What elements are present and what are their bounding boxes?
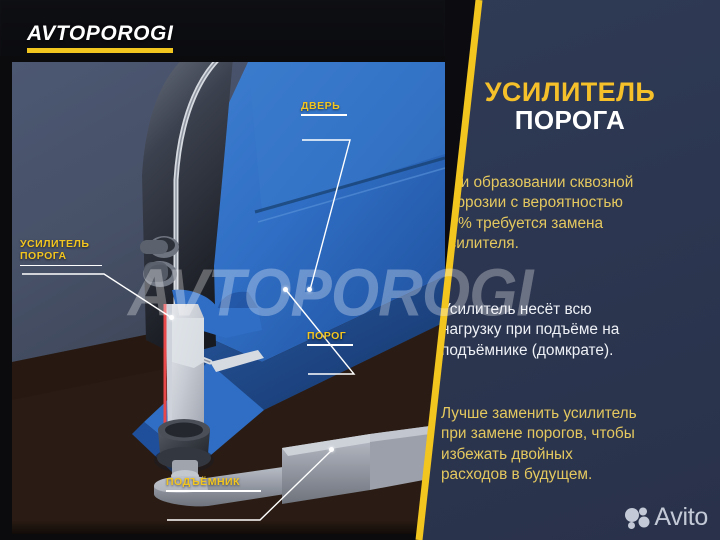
callout-anchor-dot-usilitel	[169, 315, 174, 320]
callout-underline	[20, 265, 102, 266]
page-title-line2: ПОРОГА	[420, 107, 720, 135]
paragraph-load: Усилитель несёт всю нагрузку при подъёме…	[441, 300, 709, 361]
callout-anchor-dot-podemnik	[329, 447, 334, 452]
brand-logo-underline	[27, 48, 173, 53]
sill-reinforcement-diagram	[12, 62, 445, 534]
callout-label-sill: ПОРОГ	[307, 330, 353, 346]
car-sill-cutaway-svg	[12, 62, 445, 534]
callout-label-text: ДВЕРЬ	[301, 100, 347, 112]
callout-label-sill-reinforcement: УСИЛИТЕЛЬ ПОРОГА	[20, 238, 102, 266]
illustration-frame	[0, 56, 445, 540]
ground-bottom-shadow	[12, 520, 445, 534]
callout-label-door: ДВЕРЬ	[301, 100, 347, 116]
avito-dots-icon	[624, 506, 650, 530]
callout-underline	[166, 490, 261, 491]
paragraph-corrosion: При образовании сквозной коррозии с веро…	[441, 173, 709, 255]
callout-label-text: ПОДЪЁМНИК	[166, 476, 261, 488]
callout-label-text: УСИЛИТЕЛЬ ПОРОГА	[20, 238, 102, 263]
brand-logo-text: AVTOPOROGI	[27, 22, 173, 46]
brand-logo[interactable]: AVTOPOROGI	[27, 22, 173, 53]
callout-anchor-dot-dver	[307, 287, 312, 292]
avito-logo: Avito	[624, 503, 708, 532]
callout-label-lift: ПОДЪЁМНИК	[166, 476, 261, 492]
callout-anchor-dot-porog	[283, 287, 288, 292]
paragraph-advice: Лучше заменить усилитель при замене поро…	[441, 404, 709, 486]
avito-wordmark: Avito	[654, 503, 708, 532]
callout-underline	[307, 344, 353, 345]
advertisement-image: УСИЛИТЕЛЬ ПОРОГА ДВЕРЬ ПОРОГ ПОДЪЁМНИК У…	[0, 0, 720, 540]
callout-label-text: ПОРОГ	[307, 330, 353, 342]
page-title: УСИЛИТЕЛЬ ПОРОГА	[420, 78, 720, 135]
page-title-line1: УСИЛИТЕЛЬ	[420, 78, 720, 107]
text-panel: УСИЛИТЕЛЬ ПОРОГА При образовании сквозно…	[420, 0, 720, 540]
illustration-panel: УСИЛИТЕЛЬ ПОРОГА ДВЕРЬ ПОРОГ ПОДЪЁМНИК	[0, 0, 445, 540]
callout-underline	[301, 114, 347, 115]
